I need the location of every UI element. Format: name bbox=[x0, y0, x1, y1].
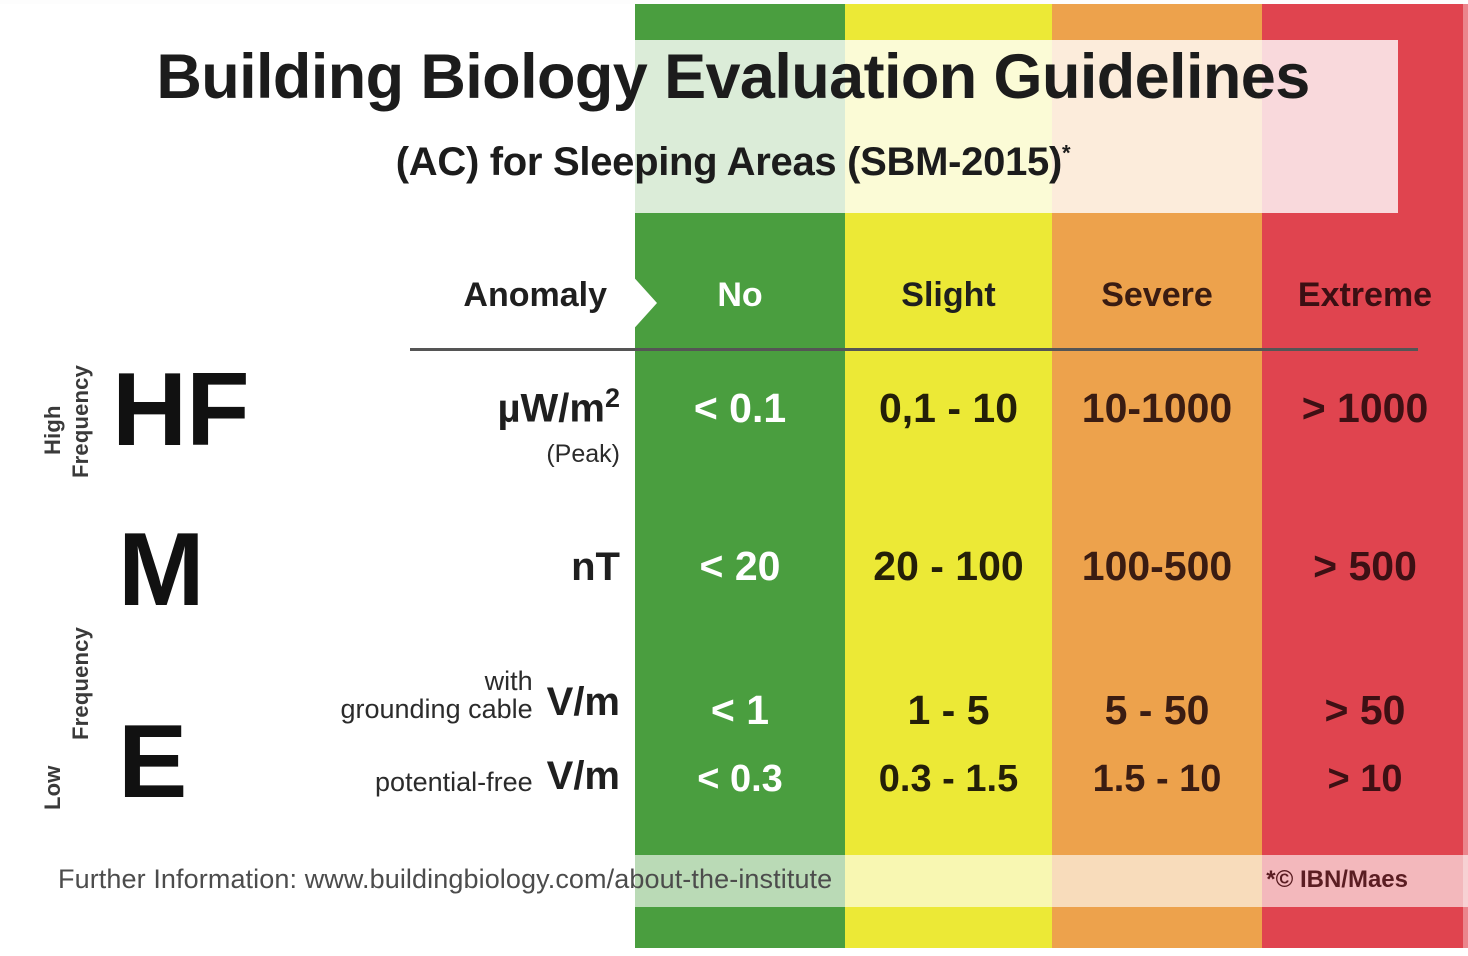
subtitle-footnote-marker: * bbox=[1062, 141, 1070, 166]
unit-e-grounded-vm: V/m bbox=[547, 681, 620, 723]
row-letter-hf: HF bbox=[112, 358, 249, 462]
guideline-chart-page: Building Biology Evaluation Guidelines (… bbox=[0, 0, 1468, 956]
row-letter-e: E bbox=[118, 710, 186, 814]
header-column-slight: Slight bbox=[845, 278, 1052, 312]
cell-e-grounded-extreme: > 50 bbox=[1262, 690, 1468, 731]
unit-e-potential-free-desc: potential-free bbox=[375, 769, 533, 797]
header-divider-rule bbox=[410, 348, 1418, 351]
cell-hf-no: < 0.1 bbox=[635, 388, 845, 429]
page-title: Building Biology Evaluation Guidelines bbox=[68, 45, 1398, 109]
cell-m-severe: 100-500 bbox=[1052, 546, 1262, 587]
row-letter-m: M bbox=[118, 518, 204, 622]
header-anomaly-label: Anomaly bbox=[410, 278, 635, 312]
unit-e-grounded-desc: with grounding cable bbox=[340, 668, 532, 723]
cell-m-no: < 20 bbox=[635, 546, 845, 587]
unit-hf-exponent: 2 bbox=[605, 383, 620, 413]
cell-m-slight: 20 - 100 bbox=[845, 546, 1052, 587]
unit-e-grounded-desc-line2: grounding cable bbox=[340, 696, 532, 724]
footer-further-information: Further Information: www.buildingbiology… bbox=[58, 864, 832, 895]
cell-e-potential-free-slight: 0.3 - 1.5 bbox=[845, 760, 1052, 798]
cell-e-potential-free-no: < 0.3 bbox=[635, 760, 845, 798]
cell-m-extreme: > 500 bbox=[1262, 546, 1468, 587]
unit-hf-text: µW/m bbox=[497, 386, 604, 430]
unit-e-grounded-desc-line1: with bbox=[340, 668, 532, 696]
cell-e-grounded-severe: 5 - 50 bbox=[1052, 690, 1262, 731]
frame-edge-bottom bbox=[0, 948, 1468, 956]
frame-edge-top bbox=[0, 0, 1468, 4]
header-column-severe: Severe bbox=[1052, 278, 1262, 312]
unit-m: nT bbox=[571, 545, 620, 590]
header-column-no: No bbox=[635, 278, 845, 312]
side-label-low: Low bbox=[40, 765, 66, 810]
cell-e-grounded-slight: 1 - 5 bbox=[845, 690, 1052, 731]
cell-hf-extreme: > 1000 bbox=[1262, 388, 1468, 429]
unit-e-potential-free-vm: V/m bbox=[547, 755, 620, 797]
cell-e-potential-free-severe: 1.5 - 10 bbox=[1052, 760, 1262, 798]
side-label-high-frequency: Frequency bbox=[68, 365, 94, 478]
page-subtitle: (AC) for Sleeping Areas (SBM-2015)* bbox=[68, 140, 1398, 185]
cell-e-grounded-no: < 1 bbox=[635, 690, 845, 731]
cell-hf-severe: 10-1000 bbox=[1052, 388, 1262, 429]
unit-hf-note: (Peak) bbox=[546, 440, 620, 469]
side-label-high: High bbox=[40, 405, 66, 455]
header-column-extreme: Extreme bbox=[1262, 278, 1468, 312]
unit-hf: µW/m2 bbox=[497, 385, 620, 429]
side-label-low-frequency: Frequency bbox=[68, 627, 94, 740]
unit-e-potential-free: potential-free V/m bbox=[375, 755, 620, 797]
page-subtitle-text: (AC) for Sleeping Areas (SBM-2015) bbox=[396, 140, 1062, 184]
unit-e-grounded: with grounding cable V/m bbox=[340, 668, 620, 723]
frame-edge-right bbox=[1463, 0, 1468, 956]
footer-copyright: *© IBN/Maes bbox=[1266, 866, 1408, 894]
cell-hf-slight: 0,1 - 10 bbox=[845, 388, 1052, 429]
cell-e-potential-free-extreme: > 10 bbox=[1262, 760, 1468, 798]
